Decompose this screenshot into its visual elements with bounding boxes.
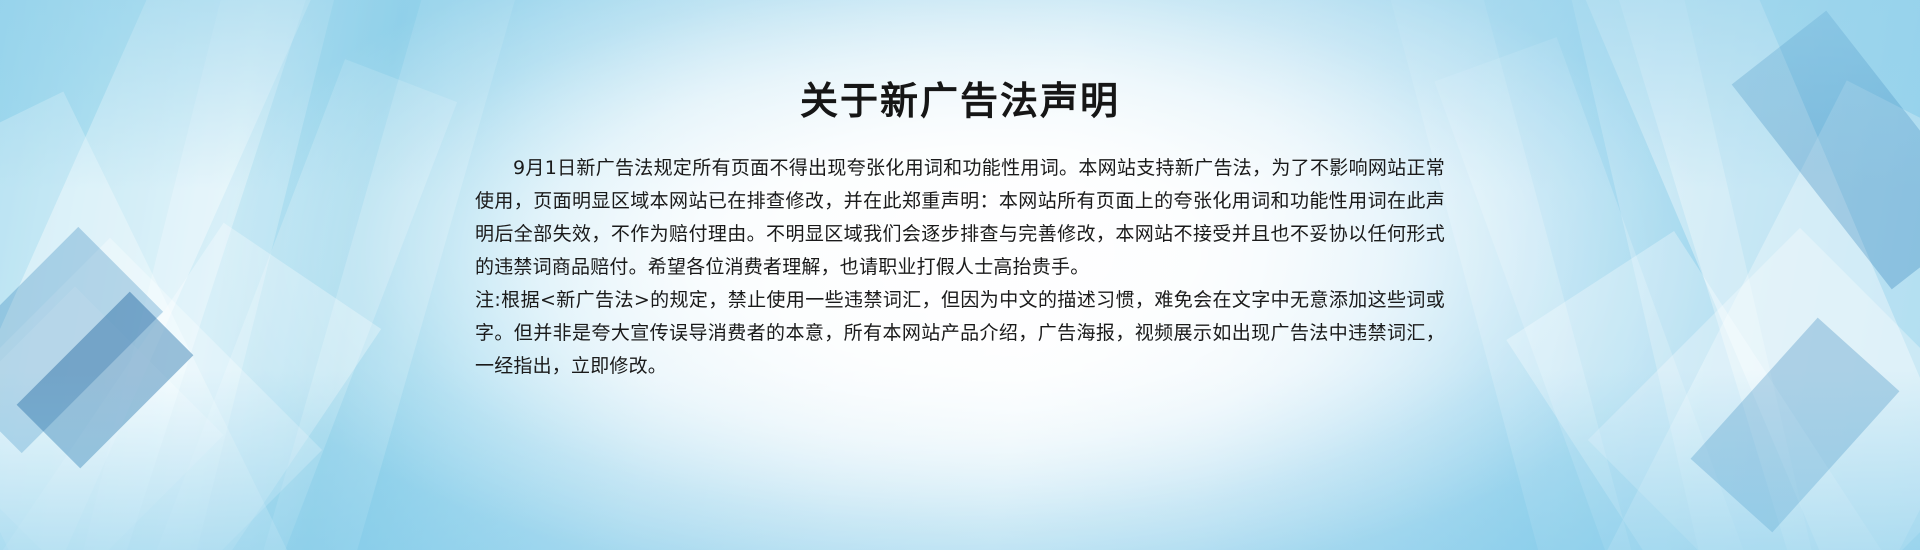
statement-paragraph-1: 9月1日新广告法规定所有页面不得出现夸张化用词和功能性用词。本网站支持新广告法，…: [475, 152, 1445, 284]
statement-paragraph-2: 注:根据<新广告法>的规定，禁止使用一些违禁词汇，但因为中文的描述习惯，难免会在…: [475, 284, 1445, 383]
statement-content: 关于新广告法声明 9月1日新广告法规定所有页面不得出现夸张化用词和功能性用词。本…: [0, 0, 1920, 383]
advertising-law-statement-banner: 关于新广告法声明 9月1日新广告法规定所有页面不得出现夸张化用词和功能性用词。本…: [0, 0, 1920, 550]
statement-body: 9月1日新广告法规定所有页面不得出现夸张化用词和功能性用词。本网站支持新广告法，…: [475, 152, 1445, 383]
page-title: 关于新广告法声明: [0, 78, 1920, 126]
